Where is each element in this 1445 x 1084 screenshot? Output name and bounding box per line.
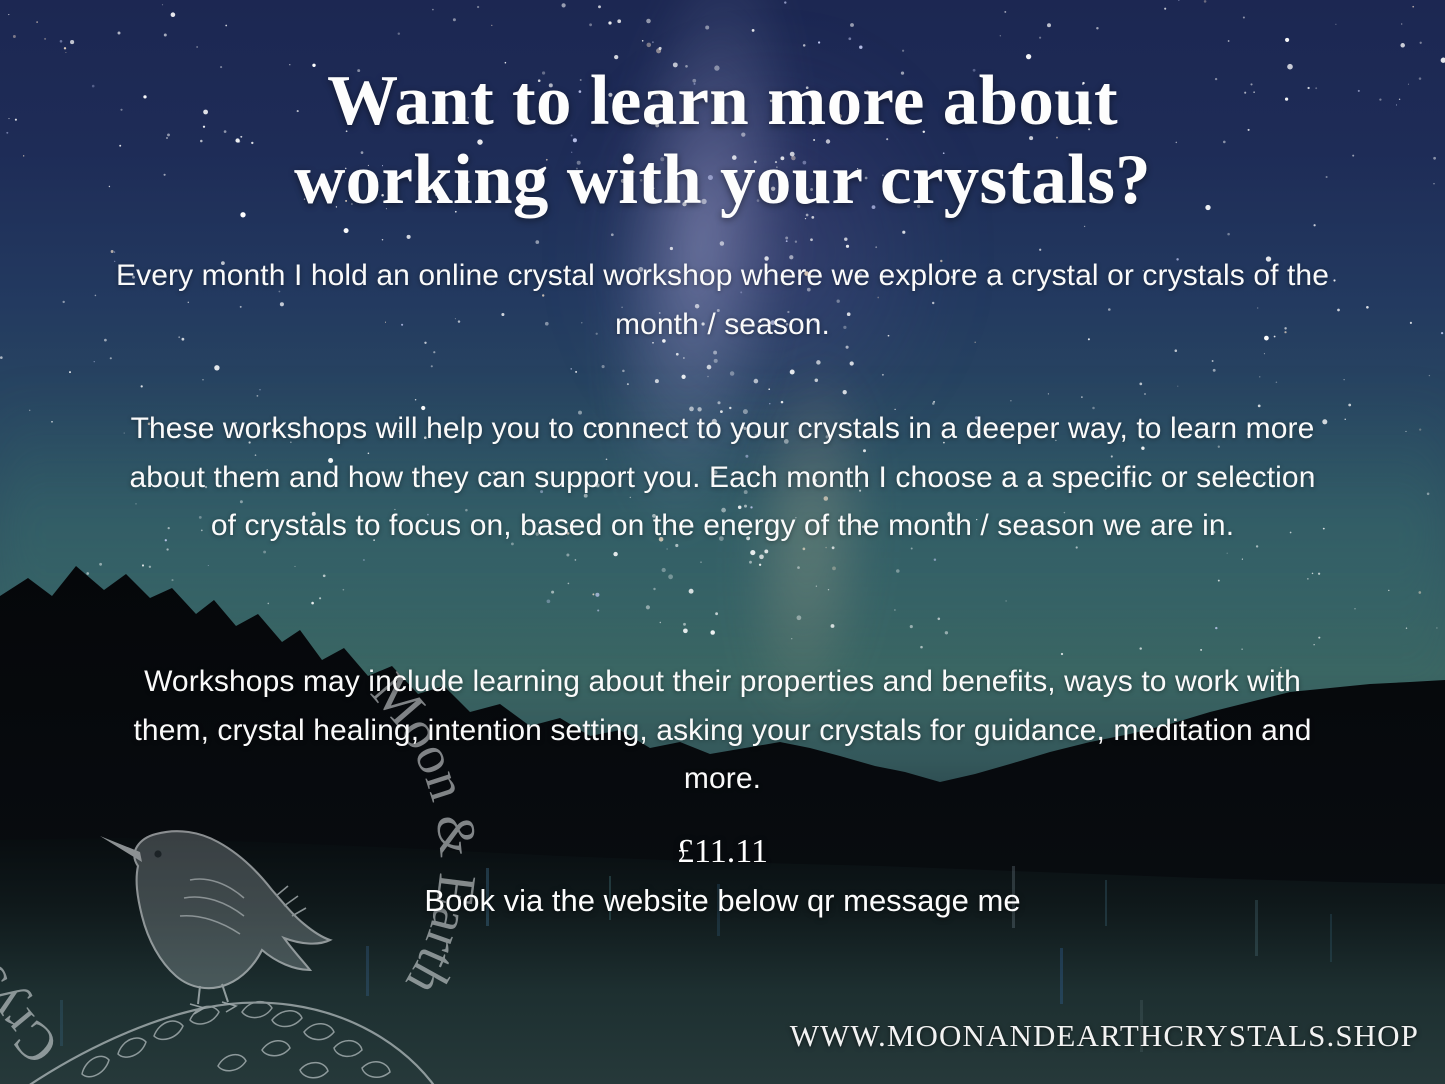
booking-instructions: Book via the website below qr message me <box>0 883 1445 919</box>
headline-line-2: working with your crystals? <box>0 141 1445 221</box>
workshop-contents-paragraph: Workshops may include learning about the… <box>0 658 1445 804</box>
poster-content: Want to learn more about working with yo… <box>0 0 1445 1084</box>
poster-canvas: Moon & Earth Crystals <box>0 0 1445 1084</box>
intro-paragraph: Every month I hold an online crystal wor… <box>0 252 1445 349</box>
website-url[interactable]: WWW.MOONANDEARTHCRYSTALS.SHOP <box>790 1018 1419 1054</box>
headline-line-1: Want to learn more about <box>327 62 1118 140</box>
price-label: £11.11 <box>0 833 1445 871</box>
workshop-description-paragraph: These workshops will help you to connect… <box>0 405 1445 551</box>
page-title: Want to learn more about working with yo… <box>0 62 1445 221</box>
